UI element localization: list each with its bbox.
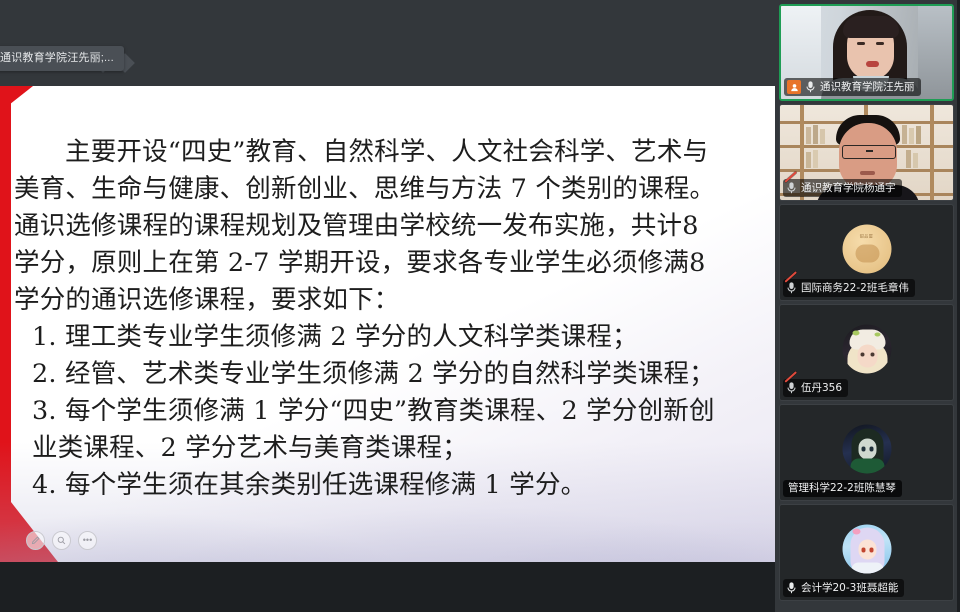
slide-list-item: 4. 每个学生须在其余类别任选课程修满 1 学分。 [14,467,724,504]
participant-name: 国际商务22-2班毛章伟 [801,282,909,295]
participant-name-bar: 通识教育学院杨通宇 [783,179,902,197]
shared-screen-region: 通识教育学院汪先丽;... 主要开设“四史”教育、自然科学、人文社会科学、艺术与… [0,0,775,612]
slide-floating-toolbar[interactable]: ••• [26,531,97,550]
participant-filmstrip[interactable]: 通识教育学院汪先丽 [775,0,960,612]
participant-name-bar: 管理科学22-2班陈慧琴 [783,480,902,497]
participant-name: 通识教育学院杨通宇 [801,182,896,195]
presentation-slide: 主要开设“四史”教育、自然科学、人文社会科学、艺术与美育、生命与健康、创新创业、… [0,86,775,562]
slide-viewport: 主要开设“四史”教育、自然科学、人文社会科学、艺术与美育、生命与健康、创新创业、… [0,86,775,562]
magnifier-icon[interactable] [52,531,71,550]
mic-muted-icon [786,281,797,295]
share-bottom-letterbox [0,562,775,612]
participant-name-bar: 国际商务22-2班毛章伟 [783,279,915,297]
participant-name: 通识教育学院汪先丽 [820,81,915,94]
host-icon [787,80,801,94]
participant-name: 管理科学22-2班陈慧琴 [788,482,896,495]
participant-tile[interactable]: 管理科学22-2班陈慧琴 [779,404,954,501]
mic-muted-icon [786,381,797,395]
more-options-icon[interactable]: ••• [78,531,97,550]
participant-tile[interactable]: 伍丹356 [779,304,954,401]
participant-name-bar: 通识教育学院汪先丽 [784,78,921,96]
slide-list-item: 1. 理工类专业学生须修满 2 学分的人文科学类课程； [14,319,724,356]
sharer-tooltip: 通识教育学院汪先丽;... [0,46,124,71]
participant-tile[interactable]: 通识教育学院杨通宇 [779,104,954,201]
meeting-window: 通识教育学院汪先丽;... 主要开设“四史”教育、自然科学、人文社会科学、艺术与… [0,0,960,612]
annotate-icon[interactable] [26,531,45,550]
share-topbar: 通识教育学院汪先丽;... [0,0,775,86]
slide-text-body: 主要开设“四史”教育、自然科学、人文社会科学、艺术与美育、生命与健康、创新创业、… [14,134,724,504]
slide-paragraph: 主要开设“四史”教育、自然科学、人文社会科学、艺术与美育、生命与健康、创新创业、… [14,134,724,319]
avatar [842,524,891,573]
mic-muted-icon [786,181,797,195]
participant-name: 伍丹356 [801,382,842,395]
slide-list-item: 3. 每个学生须修满 1 学分“四史”教育类课程、2 学分创新创业类课程、2 学… [14,393,724,467]
slide-corner-accent-top-square [0,86,10,102]
participant-name-bar: 伍丹356 [783,379,848,397]
mic-on-icon [805,80,816,94]
participant-tile[interactable]: 甜品屋 国际商务22-2班毛章伟 [779,204,954,301]
avatar: 甜品屋 [842,224,891,273]
avatar [842,324,891,373]
mic-on-icon [786,581,797,595]
participant-name: 会计学20-3班聂超能 [801,582,898,595]
avatar [842,424,891,473]
participant-tile[interactable]: 会计学20-3班聂超能 [779,504,954,601]
participant-name-bar: 会计学20-3班聂超能 [783,579,904,597]
participant-tile[interactable]: 通识教育学院汪先丽 [779,4,954,101]
slide-list-item: 2. 经管、艺术类专业学生须修满 2 学分的自然科学类课程； [14,356,724,393]
